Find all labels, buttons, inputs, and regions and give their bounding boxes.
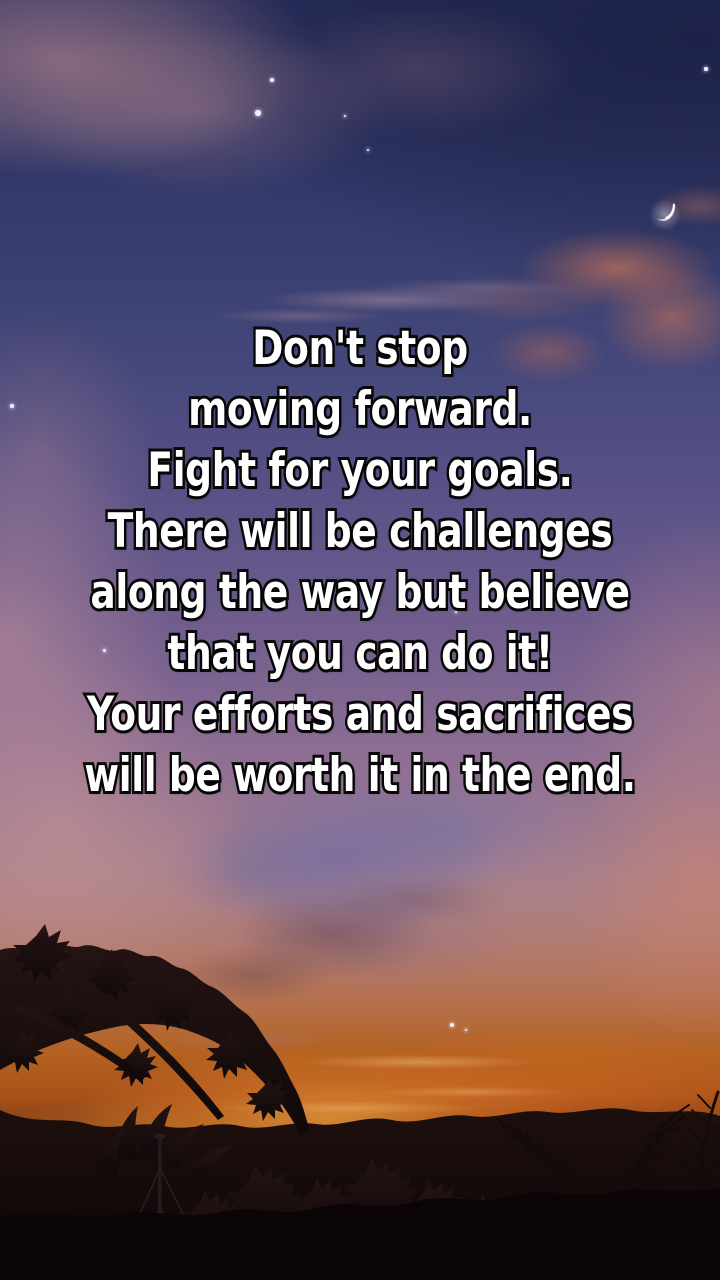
star-icon — [270, 78, 274, 82]
star-icon — [344, 115, 347, 118]
quote-line: Don't stop — [72, 318, 648, 379]
quote-text-block: Don't stop moving forward. Fight for you… — [0, 318, 720, 806]
star-icon — [255, 110, 260, 115]
quote-line: along the way but believe — [72, 562, 648, 623]
star-icon — [704, 67, 707, 70]
crescent-moon-icon — [648, 198, 682, 232]
quote-line: will be worth it in the end. — [72, 745, 648, 806]
quote-line: There will be challenges — [72, 501, 648, 562]
star-icon — [367, 149, 369, 151]
quote-wallpaper: Don't stop moving forward. Fight for you… — [0, 0, 720, 1280]
quote-line: Fight for your goals. — [72, 440, 648, 501]
quote-line: Your efforts and sacrifices — [72, 684, 648, 745]
quote-line: that you can do it! — [72, 623, 648, 684]
tree-silhouette-left — [0, 924, 310, 1134]
quote-line: moving forward. — [72, 379, 648, 440]
foreground-silhouettes — [0, 920, 720, 1280]
